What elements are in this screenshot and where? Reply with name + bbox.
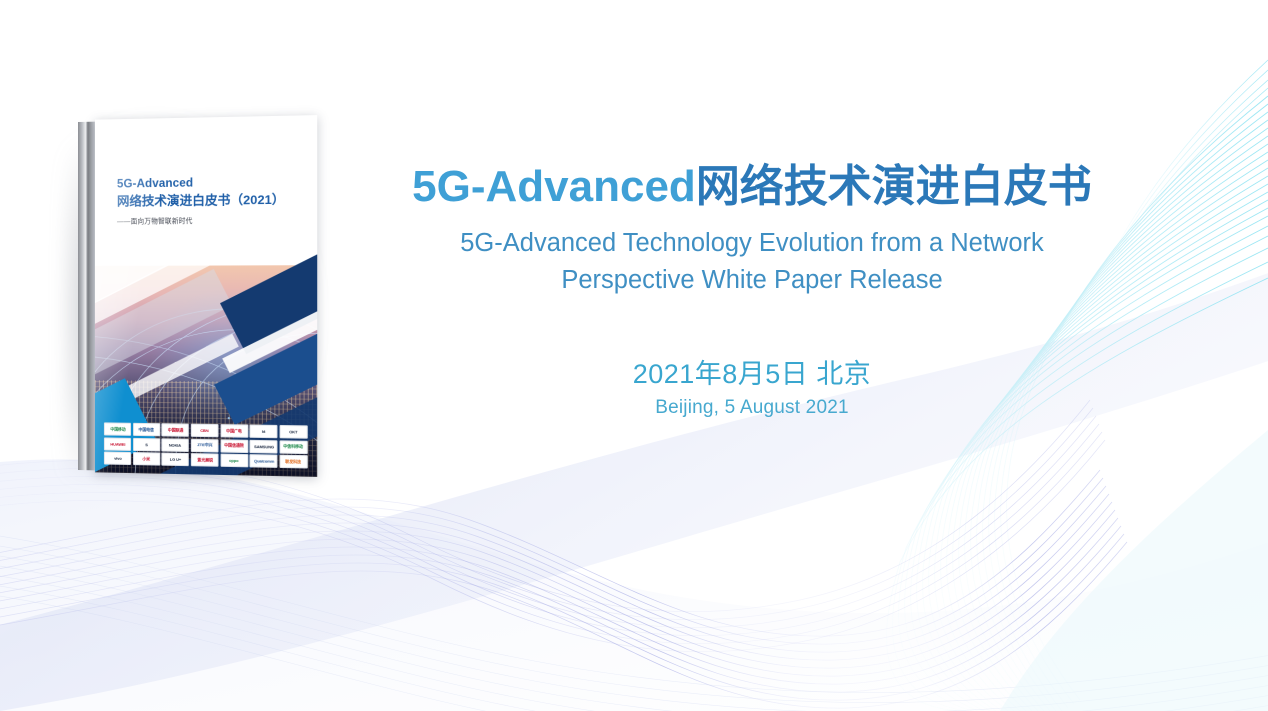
main-title-en: 5G-Advanced: [412, 162, 696, 211]
book-spine: [78, 122, 95, 471]
headline-block: 5G-Advanced网络技术演进白皮书 5G-Advanced Technol…: [352, 163, 1152, 298]
subtitle-line-1: 5G-Advanced Technology Evolution from a …: [352, 225, 1152, 261]
book-body: 5G-Advanced 网络技术演进白皮书（2021） ——面向万物智联新时代: [78, 115, 317, 477]
book-cover-gloss: [95, 115, 317, 477]
event-datetime-block: 2021年8月5日 北京 Beijing, 5 August 2021: [352, 352, 1152, 419]
subtitle-line-2: Perspective White Paper Release: [352, 262, 1152, 298]
event-date-en: Beijing, 5 August 2021: [352, 397, 1152, 419]
event-date-cn: 2021年8月5日 北京: [352, 352, 1152, 391]
main-title: 5G-Advanced网络技术演进白皮书: [352, 163, 1152, 211]
subtitle-block: 5G-Advanced Technology Evolution from a …: [352, 225, 1152, 297]
slide-canvas: 5G-Advanced 网络技术演进白皮书（2021） ——面向万物智联新时代: [0, 0, 1268, 711]
main-title-cn: 网络技术演进白皮书: [696, 162, 1092, 211]
book-front-cover: 5G-Advanced 网络技术演进白皮书（2021） ——面向万物智联新时代: [95, 115, 317, 477]
whitepaper-book-mockup: 5G-Advanced 网络技术演进白皮书（2021） ——面向万物智联新时代: [62, 112, 330, 484]
